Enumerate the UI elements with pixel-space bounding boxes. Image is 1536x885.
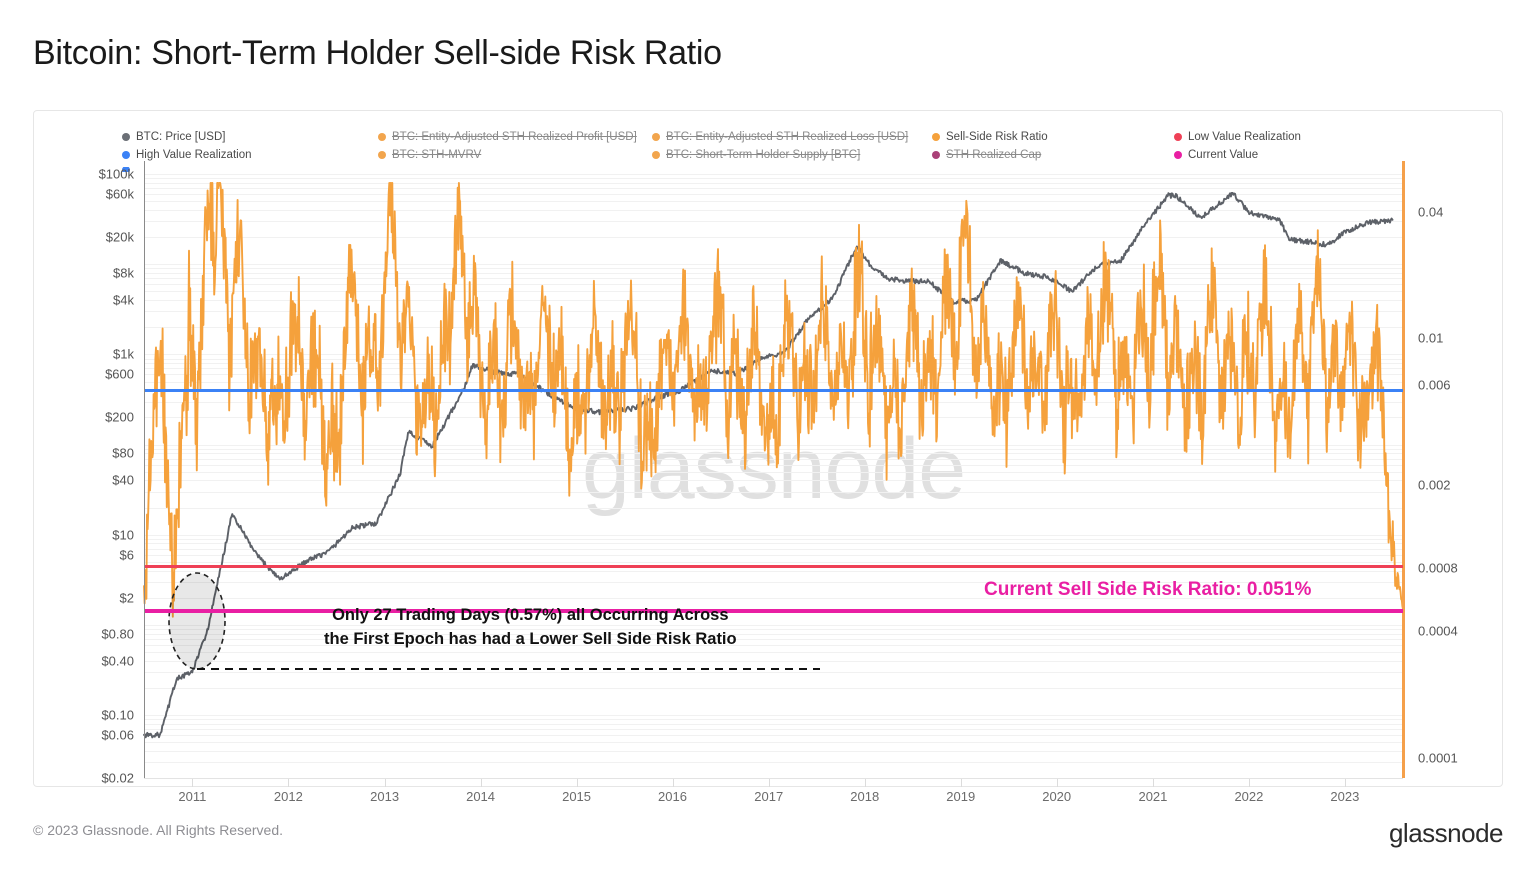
- legend-item-label: Sell-Side Risk Ratio: [946, 131, 1048, 143]
- legend-item-label: BTC: STH-MVRV: [392, 149, 481, 161]
- y-axis-right-tick-label: 0.0001: [1418, 750, 1458, 765]
- x-axis-tick-label: 2019: [946, 789, 975, 804]
- legend-item-label: BTC: Price [USD]: [136, 131, 225, 143]
- legend-item[interactable]: Sell-Side Risk Ratio: [932, 131, 1048, 143]
- legend-color-dot-icon: [1174, 133, 1182, 141]
- legend-item-label: High Value Realization: [136, 149, 252, 161]
- legend-item[interactable]: BTC: Entity-Adjusted STH Realized Loss […: [652, 131, 908, 143]
- x-axis-tick-mark: [1249, 778, 1250, 787]
- x-axis-tick-mark: [1153, 778, 1154, 787]
- y-axis-right-tick-label: 0.006: [1418, 377, 1451, 392]
- legend-item[interactable]: High Value Realization: [122, 149, 252, 161]
- x-axis-tick-mark: [192, 778, 193, 787]
- legend-item[interactable]: Current Value: [1174, 149, 1258, 161]
- x-axis-tick-mark: [385, 778, 386, 787]
- legend-color-dot-icon: [122, 151, 130, 159]
- chart-card: BTC: Price [USD]High Value RealizationBT…: [33, 110, 1503, 787]
- epoch-callout-line1: Only 27 Trading Days (0.57%) all Occurri…: [324, 604, 737, 628]
- epoch-callout-line2: the First Epoch has had a Lower Sell Sid…: [324, 628, 737, 652]
- y-axis-left-tick-label: $20k: [106, 230, 134, 245]
- legend-color-dot-icon: [122, 133, 130, 141]
- y-axis-right-tick-label: 0.0004: [1418, 624, 1458, 639]
- legend-item[interactable]: STH Realized Cap: [932, 149, 1041, 161]
- legend-item-label: BTC: Entity-Adjusted STH Realized Loss […: [666, 131, 908, 143]
- legend-item[interactable]: Low Value Realization: [1174, 131, 1301, 143]
- x-axis-tick-label: 2021: [1138, 789, 1167, 804]
- reference-line: [145, 565, 1403, 568]
- legend-item-label: Current Value: [1188, 149, 1258, 161]
- series-layer: [144, 161, 1403, 778]
- x-axis-tick-label: 2018: [850, 789, 879, 804]
- y-axis-left-tick-label: $100k: [99, 167, 134, 182]
- x-axis-tick-mark: [673, 778, 674, 787]
- legend-color-dot-icon: [932, 151, 940, 159]
- y-axis-right-tick-label: 0.002: [1418, 477, 1451, 492]
- y-axis-left-tick-label: $0.10: [101, 707, 134, 722]
- x-axis-spine: [144, 778, 1403, 779]
- legend-item-label: BTC: Entity-Adjusted STH Realized Profit…: [392, 131, 637, 143]
- legend-item[interactable]: BTC: Price [USD]: [122, 131, 225, 143]
- x-axis-tick-label: 2017: [754, 789, 783, 804]
- legend-color-dot-icon: [652, 133, 660, 141]
- y-axis-left-tick-label: $40: [112, 473, 134, 488]
- x-axis-tick-mark: [961, 778, 962, 787]
- y-axis-left-tick-label: $0.02: [101, 771, 134, 786]
- x-axis-tick-label: 2015: [562, 789, 591, 804]
- x-axis-tick-label: 2013: [370, 789, 399, 804]
- y-axis-left-tick-label: $2: [120, 590, 134, 605]
- chart-page: Bitcoin: Short-Term Holder Sell-side Ris…: [0, 0, 1536, 885]
- y-axis-left-tick-label: $10: [112, 527, 134, 542]
- x-axis-tick-label: 2011: [178, 789, 206, 804]
- y-axis-left-tick-label: $6: [120, 547, 134, 562]
- x-axis-tick-label: 2022: [1234, 789, 1263, 804]
- plot-area: glassnode $100k$60k$20k$8k$4k$1k$600$200…: [144, 161, 1403, 778]
- x-axis-tick-mark: [865, 778, 866, 787]
- legend-item[interactable]: BTC: STH-MVRV: [378, 149, 481, 161]
- legend-item[interactable]: BTC: Entity-Adjusted STH Realized Profit…: [378, 131, 637, 143]
- y-axis-left-tick-label: $0.40: [101, 653, 134, 668]
- reference-line: [145, 389, 1403, 392]
- x-axis-tick-label: 2014: [466, 789, 495, 804]
- y-axis-left-spine: [144, 161, 145, 778]
- legend-color-dot-icon: [652, 151, 660, 159]
- legend-color-dot-icon: [932, 133, 940, 141]
- legend-color-dot-icon: [378, 133, 386, 141]
- x-axis-tick-label: 2020: [1042, 789, 1071, 804]
- legend-color-dot-icon: [378, 151, 386, 159]
- x-axis-tick-mark: [577, 778, 578, 787]
- current-ratio-callout: Current Sell Side Risk Ratio: 0.051%: [984, 579, 1311, 601]
- x-axis-tick-label: 2023: [1330, 789, 1359, 804]
- y-axis-left-tick-label: $4k: [113, 293, 134, 308]
- y-axis-right-tick-label: 0.04: [1418, 204, 1443, 219]
- legend-item[interactable]: BTC: Short-Term Holder Supply [BTC]: [652, 149, 860, 161]
- x-axis-tick-mark: [769, 778, 770, 787]
- x-axis-tick-mark: [1057, 778, 1058, 787]
- y-axis-left-tick-label: $8k: [113, 266, 134, 281]
- y-axis-left-tick-label: $1k: [113, 347, 134, 362]
- y-axis-left-tick-label: $0.80: [101, 626, 134, 641]
- footer-copyright: © 2023 Glassnode. All Rights Reserved.: [33, 822, 283, 838]
- legend-color-dot-icon: [1174, 151, 1182, 159]
- y-axis-left-tick-label: $0.06: [101, 727, 134, 742]
- legend-item-label: BTC: Short-Term Holder Supply [BTC]: [666, 149, 860, 161]
- x-axis-tick-label: 2012: [274, 789, 303, 804]
- y-axis-right-tick-label: 0.01: [1418, 331, 1443, 346]
- epoch-callout: Only 27 Trading Days (0.57%) all Occurri…: [324, 604, 737, 652]
- y-axis-left-tick-label: $80: [112, 446, 134, 461]
- x-axis-tick-mark: [1345, 778, 1346, 787]
- legend-item-label: STH Realized Cap: [946, 149, 1041, 161]
- y-axis-right-tick-label: 0.0008: [1418, 561, 1458, 576]
- y-axis-right-spine: [1402, 161, 1405, 778]
- x-axis-tick-mark: [481, 778, 482, 787]
- y-axis-left-tick-label: $600: [105, 367, 134, 382]
- y-axis-left-tick-label: $60k: [106, 187, 134, 202]
- legend-item-label: Low Value Realization: [1188, 131, 1301, 143]
- x-axis-tick-mark: [288, 778, 289, 787]
- first-epoch-highlight-ellipse: [169, 573, 225, 669]
- page-title: Bitcoin: Short-Term Holder Sell-side Ris…: [33, 34, 722, 73]
- y-axis-left-tick-label: $200: [105, 410, 134, 425]
- brand-logo: glassnode: [1389, 818, 1503, 849]
- x-axis-tick-label: 2016: [658, 789, 687, 804]
